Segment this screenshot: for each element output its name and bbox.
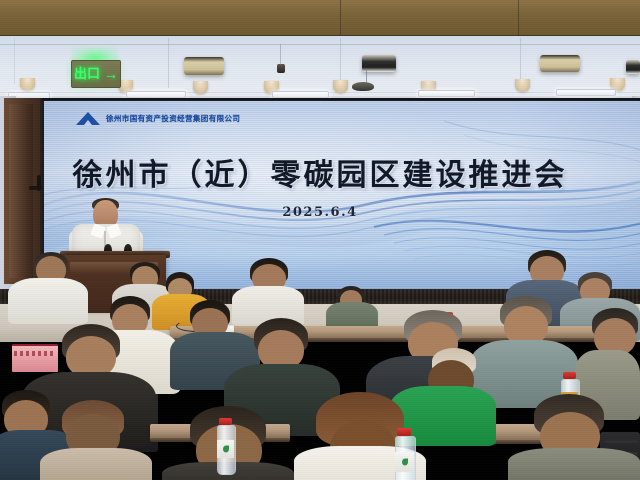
exit-sign-glow — [72, 47, 118, 61]
smoke-sensor-icon — [277, 64, 285, 73]
bottle-label — [217, 440, 234, 458]
attendee-torso — [508, 448, 640, 480]
ceiling-joint-line — [0, 44, 640, 45]
company-logo: 徐州市国有资产投资经营集团有限公司 — [76, 112, 240, 125]
company-name-label: 徐州市国有资产投资经营集团有限公司 — [106, 113, 240, 124]
downlight-icon — [515, 79, 530, 92]
downlight-icon — [333, 80, 348, 93]
ceiling-projector-fixture — [362, 55, 396, 72]
beam-seam — [340, 0, 341, 38]
downlight-icon — [193, 81, 208, 94]
beam-seam — [518, 0, 519, 38]
ceiling-wood-beam — [0, 0, 640, 38]
ceiling-projector-fixture — [184, 57, 224, 75]
sensor-hanger-rod — [280, 44, 281, 65]
mountain-triangle-logo-icon — [76, 112, 101, 125]
conference-photo-scene: 出口 → — [0, 0, 640, 480]
bottle-cap — [397, 428, 411, 436]
strip-light — [418, 90, 475, 97]
ceiling-fixture — [626, 60, 640, 74]
exit-sign: 出口 → — [71, 60, 121, 88]
attendee-torso — [8, 278, 88, 324]
downlight-icon — [20, 78, 35, 91]
ceiling-grid-line — [168, 38, 169, 88]
ceiling-speaker-icon — [352, 82, 374, 91]
strip-light — [272, 91, 329, 98]
strip-light — [556, 89, 616, 96]
bottle-cap — [219, 418, 232, 425]
ceiling-projector-fixture — [540, 55, 580, 72]
ceiling-grid-line — [14, 38, 15, 84]
strip-light — [126, 91, 186, 98]
event-date: 2025.6.4 — [0, 205, 640, 220]
chair-slat — [604, 440, 638, 443]
page-title: 徐州市（近）零碳园区建设推进会 — [0, 150, 640, 194]
attendee-torso — [40, 448, 152, 480]
name-placard — [12, 344, 58, 372]
bottle-cap — [563, 372, 576, 379]
placard-text — [14, 351, 56, 356]
bottle-label — [395, 452, 414, 472]
exit-label: 出口 — [74, 68, 100, 81]
exit-arrow-icon: → — [104, 67, 118, 81]
